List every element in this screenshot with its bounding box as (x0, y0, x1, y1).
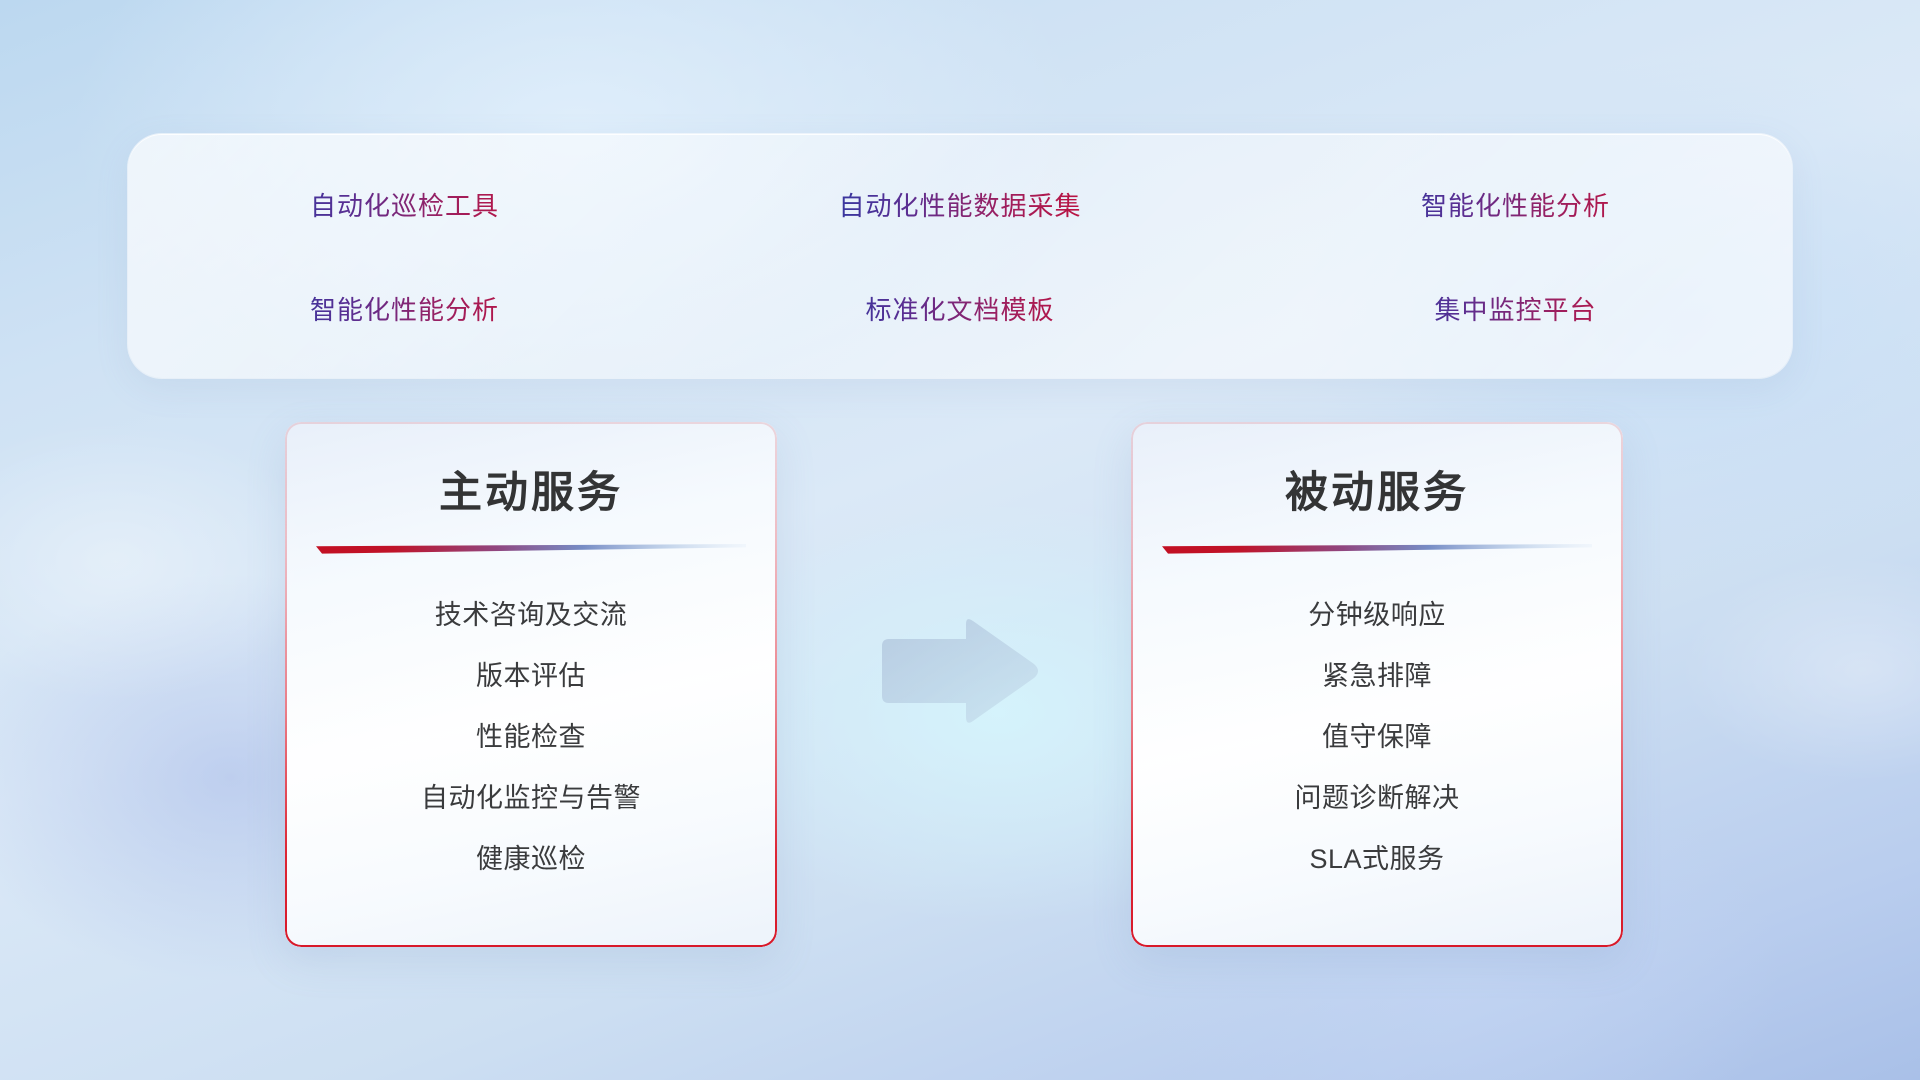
list-item[interactable]: 问题诊断解决 (1295, 768, 1460, 829)
capability-tag[interactable]: 智能化性能分析 (226, 272, 583, 344)
title-divider (1162, 542, 1592, 558)
list-item[interactable]: 健康巡检 (476, 829, 586, 890)
capability-tag[interactable]: 自动化性能数据采集 (782, 168, 1139, 240)
service-card-passive: 被动服务 分钟级响应 紧急排障 值守保障 (1131, 422, 1623, 947)
capability-tag[interactable]: 标准化文档模板 (782, 272, 1139, 344)
slide-canvas: 自动化巡检工具 自动化性能数据采集 智能化性能分析 智能化性能分析 标准化文档模… (0, 0, 1920, 1080)
title-divider (316, 542, 746, 558)
capability-tag[interactable]: 自动化巡检工具 (226, 168, 583, 240)
card-title: 被动服务 (1285, 458, 1469, 520)
capability-tag-row-2: 智能化性能分析 标准化文档模板 集中监控平台 (226, 272, 1694, 344)
list-item[interactable]: 值守保障 (1322, 707, 1432, 768)
capability-tag-row-1: 自动化巡检工具 自动化性能数据采集 智能化性能分析 (226, 168, 1694, 240)
list-item[interactable]: 自动化监控与告警 (421, 768, 641, 829)
capability-tag[interactable]: 集中监控平台 (1337, 272, 1694, 344)
service-card-active: 主动服务 技术咨询及交流 版本评估 性能检查 (285, 422, 777, 947)
list-item[interactable]: SLA式服务 (1309, 829, 1444, 890)
list-item[interactable]: 技术咨询及交流 (435, 585, 628, 646)
list-item[interactable]: 分钟级响应 (1308, 585, 1446, 646)
arrow-right-icon (878, 616, 1042, 726)
list-item[interactable]: 版本评估 (476, 646, 586, 707)
capabilities-panel: 自动化巡检工具 自动化性能数据采集 智能化性能分析 智能化性能分析 标准化文档模… (128, 134, 1792, 378)
list-item[interactable]: 性能检查 (476, 707, 586, 768)
card-title: 主动服务 (439, 458, 623, 520)
service-item-list: 技术咨询及交流 版本评估 性能检查 自动化监控与告警 健康巡检 (285, 585, 777, 890)
service-item-list: 分钟级响应 紧急排障 值守保障 问题诊断解决 SLA式服务 (1131, 585, 1623, 890)
capability-tag[interactable]: 智能化性能分析 (1337, 168, 1694, 240)
list-item[interactable]: 紧急排障 (1322, 646, 1432, 707)
